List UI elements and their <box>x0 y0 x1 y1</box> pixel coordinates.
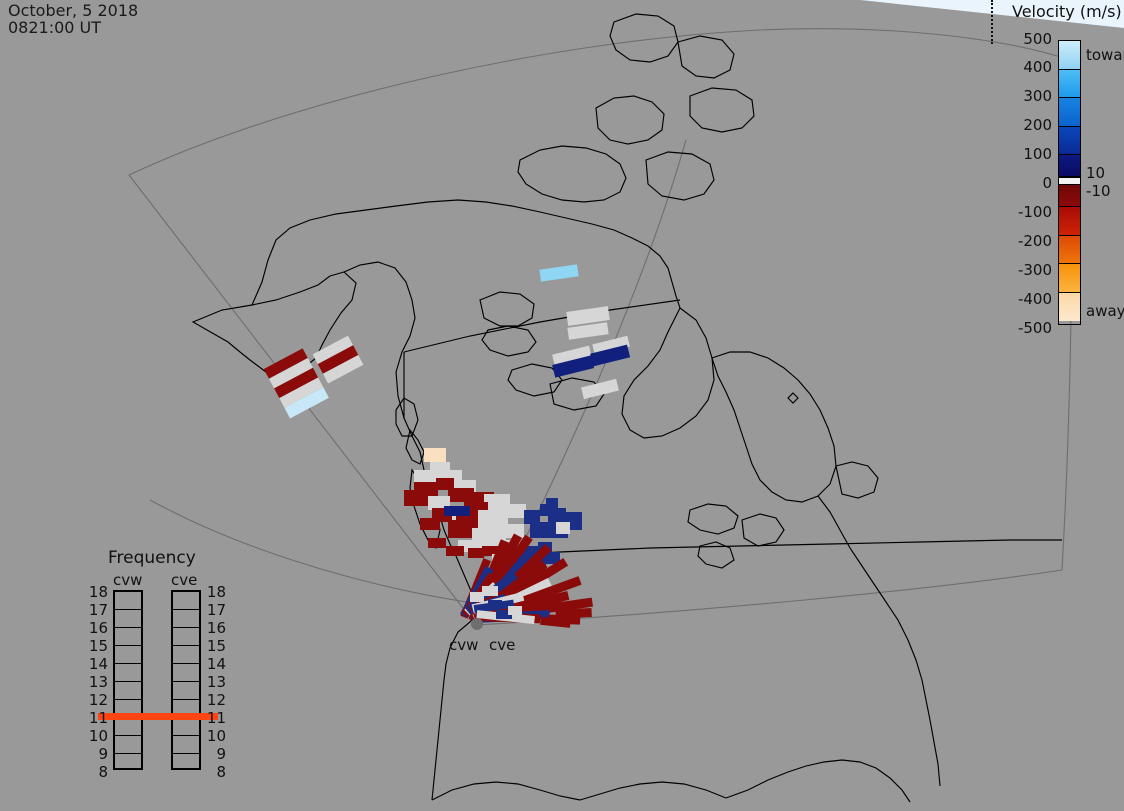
colorbar-tick: 0 <box>1042 174 1052 192</box>
frequency-radar-label-cvw: cvw <box>113 571 142 589</box>
colorbar-gs-upper-label: 10 <box>1086 164 1105 182</box>
colorbar-tick: -500 <box>1018 319 1052 337</box>
frequency-segment <box>115 718 141 736</box>
colorbar-band <box>1059 127 1080 156</box>
colorbar-tick: 200 <box>1023 116 1052 134</box>
colorbar-ground-scatter-band <box>1059 177 1080 185</box>
frequency-scale-label: 13 <box>204 673 226 691</box>
frequency-scale-label: 18 <box>204 583 226 601</box>
frequency-scale-label: 18 <box>86 583 108 601</box>
frequency-scale-label: 13 <box>86 673 108 691</box>
colorbar-band <box>1059 70 1080 99</box>
frequency-segment <box>115 682 141 700</box>
radar-data-cells <box>264 264 630 627</box>
frequency-segment <box>173 610 199 628</box>
frequency-segment <box>173 646 199 664</box>
colorbar-band <box>1059 293 1080 322</box>
north-america-map: cvw cve <box>0 0 1124 811</box>
frequency-segment <box>115 754 141 772</box>
colorbar-tick: -200 <box>1018 232 1052 250</box>
colorbar-band <box>1059 236 1080 265</box>
site-label-cve: cve <box>489 636 515 654</box>
frequency-bar-cve <box>171 590 201 770</box>
colorbar-band <box>1059 185 1080 207</box>
colorbar-tick: 400 <box>1023 58 1052 76</box>
frequency-scale-label: 12 <box>86 691 108 709</box>
frequency-segment <box>115 646 141 664</box>
colorbar-tick: -400 <box>1018 290 1052 308</box>
radar-site-marker <box>471 618 483 630</box>
frequency-segment <box>115 628 141 646</box>
frequency-segment <box>173 736 199 754</box>
frequency-legend-title: Frequency <box>108 548 196 568</box>
radar-plot-canvas: cvw cve October, 5 2018 0821:00 UT Veloc… <box>0 0 1124 811</box>
timestamp-label: October, 5 2018 0821:00 UT <box>8 2 138 36</box>
frequency-segment <box>173 628 199 646</box>
frequency-scale-label: 16 <box>204 619 226 637</box>
frequency-segment <box>115 736 141 754</box>
colorbar-toward-label: toward <box>1086 46 1124 64</box>
colorbar-tick-labels: 500 400 300 200 100 0 -100 -200 -300 -40… <box>986 26 1052 326</box>
colorbar-band <box>1059 155 1080 177</box>
frequency-scale-label: 11 <box>86 709 108 727</box>
frequency-segment <box>173 592 199 610</box>
colorbar-tick: -100 <box>1018 203 1052 221</box>
colorbar-tick: 300 <box>1023 87 1052 105</box>
frequency-segment <box>173 664 199 682</box>
colorbar-band <box>1059 207 1080 236</box>
frequency-scale-label: 8 <box>86 763 108 781</box>
colorbar-band <box>1059 98 1080 127</box>
colorbar-band <box>1059 264 1080 293</box>
frequency-scale-label: 12 <box>204 691 226 709</box>
velocity-colorbar <box>1058 40 1081 325</box>
colorbar-tick: -300 <box>1018 261 1052 279</box>
colorbar-gs-lower-label: -10 <box>1086 182 1111 200</box>
frequency-scale-label: 16 <box>86 619 108 637</box>
frequency-scale-label: 14 <box>204 655 226 673</box>
colorbar-away-label: away <box>1086 302 1124 320</box>
frequency-segment <box>115 610 141 628</box>
site-label-cvw: cvw <box>449 636 478 654</box>
frequency-segment <box>115 592 141 610</box>
frequency-scale-label: 9 <box>204 745 226 763</box>
coastlines <box>193 14 1062 802</box>
colorbar-tick: 100 <box>1023 145 1052 163</box>
frequency-scale-label: 10 <box>204 727 226 745</box>
frequency-scale-label: 11 <box>204 709 226 727</box>
frequency-scale-label: 10 <box>86 727 108 745</box>
frequency-segment <box>173 754 199 772</box>
colorbar-title: Velocity (m/s) <box>1012 2 1122 21</box>
frequency-radar-label-cve: cve <box>171 571 197 589</box>
frequency-bar-cvw <box>113 590 143 770</box>
frequency-scale-label: 8 <box>204 763 226 781</box>
frequency-segment <box>173 718 199 736</box>
frequency-scale-label: 15 <box>204 637 226 655</box>
frequency-scale-label: 17 <box>86 601 108 619</box>
colorbar-tick: 500 <box>1023 30 1052 48</box>
frequency-scale-label: 17 <box>204 601 226 619</box>
frequency-scale-label: 9 <box>86 745 108 763</box>
frequency-segment <box>115 664 141 682</box>
frequency-scale-label: 15 <box>86 637 108 655</box>
frequency-scale-label: 14 <box>86 655 108 673</box>
frequency-segment <box>173 682 199 700</box>
colorbar-band <box>1059 41 1080 70</box>
